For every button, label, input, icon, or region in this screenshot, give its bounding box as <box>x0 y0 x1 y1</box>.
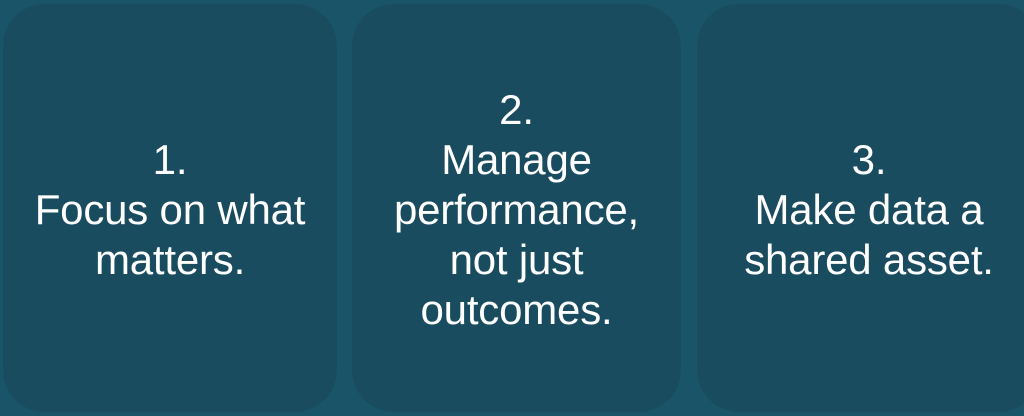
principle-card-1[interactable]: 1. Focus on what matters. <box>3 4 337 412</box>
principle-card-3-text: 3. Make data a shared asset. <box>736 135 1002 285</box>
principle-card-3[interactable]: 3. Make data a shared asset. <box>697 4 1024 412</box>
principle-card-1-text: 1. Focus on what matters. <box>27 135 314 285</box>
principle-card-2-text: 2. Manage performance, not just outcomes… <box>386 85 647 335</box>
slide-canvas: 1. Focus on what matters. 2. Manage perf… <box>0 0 1024 416</box>
principle-card-2[interactable]: 2. Manage performance, not just outcomes… <box>352 4 681 412</box>
